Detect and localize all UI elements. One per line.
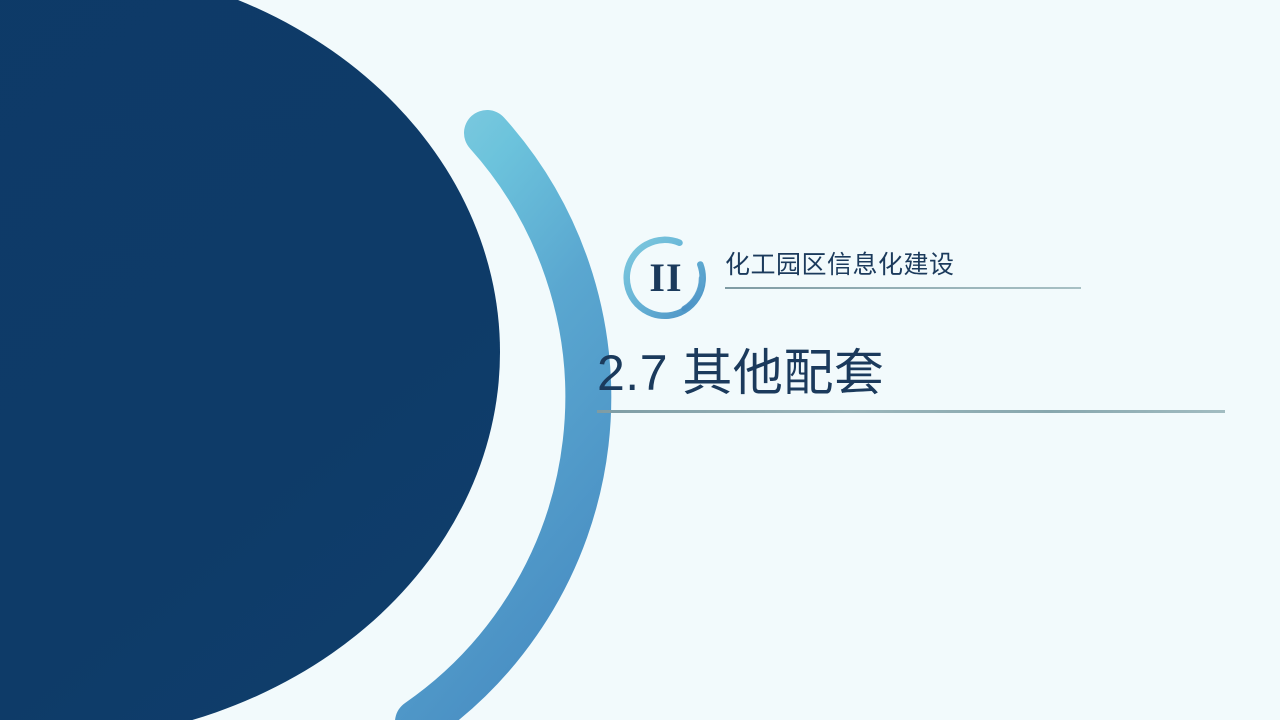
title-block: 2.7 其他配套 [597,340,1225,413]
subtitle-block: 化工园区信息化建设 [725,248,1081,289]
decorative-arc [418,133,588,720]
navy-disc [0,0,500,720]
page-title: 2.7 其他配套 [597,340,1225,406]
badge-numeral: II [622,234,710,322]
section-badge: II [622,234,710,322]
slide-canvas: II 化工园区信息化建设 2.7 其他配套 [0,0,1280,720]
title-divider [597,410,1225,413]
subtitle-divider [725,287,1081,289]
section-subtitle: 化工园区信息化建设 [725,248,1081,282]
